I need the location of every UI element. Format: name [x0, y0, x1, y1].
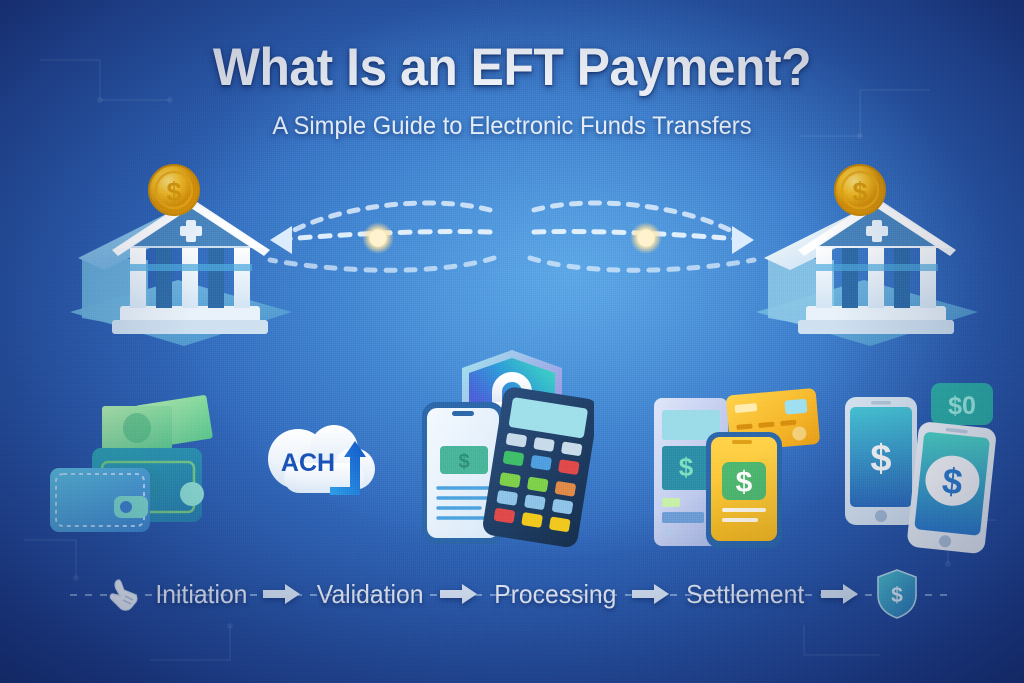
svg-text:$: $ — [736, 466, 753, 499]
svg-text:$: $ — [679, 452, 694, 482]
svg-text:$: $ — [852, 177, 867, 207]
shield-dollar-icon: $ — [876, 569, 918, 619]
method-ach: ACH — [256, 415, 386, 520]
method-atm-card: $ — [634, 380, 824, 555]
bank-right: $ — [748, 160, 988, 350]
method-mobile-transfer: $0 $ $ — [835, 375, 1015, 560]
header: What Is an EFT Payment? A Simple Guide t… — [0, 40, 1024, 141]
arrow-right-icon — [632, 583, 670, 605]
hand-pointer-icon[interactable] — [106, 576, 140, 612]
process-flow: Initiation Validation Processing Settlem… — [0, 568, 1024, 620]
bubble-label: $0 — [948, 392, 976, 420]
banknote-icon — [102, 395, 213, 450]
svg-text:$: $ — [891, 584, 903, 607]
arrow-right-icon — [821, 583, 859, 605]
page-title: What Is an EFT Payment? — [31, 40, 994, 96]
flow-step-validation: Validation — [317, 579, 424, 610]
bank-left: $ — [60, 160, 300, 350]
svg-text:$: $ — [940, 460, 964, 503]
transfer-links — [240, 180, 784, 330]
phone-back-icon: $ — [845, 397, 917, 525]
bank-transfer-row: $ — [0, 160, 1024, 350]
page-subtitle: A Simple Guide to Electronic Funds Trans… — [26, 112, 999, 141]
flow-step-settlement: Settlement — [686, 579, 804, 610]
method-cash-wallet — [40, 390, 240, 545]
flow-step-initiation: Initiation — [156, 579, 248, 610]
coin-icon-right: $ — [835, 165, 885, 215]
svg-text:$: $ — [166, 177, 181, 207]
infographic-poster: What Is an EFT Payment? A Simple Guide t… — [0, 0, 1024, 683]
arrow-right-icon — [440, 583, 478, 605]
arrow-right-icon — [263, 583, 301, 605]
payment-methods-strip: ACH — [0, 375, 1024, 555]
flow-step-processing: Processing — [494, 579, 616, 610]
svg-text:$: $ — [870, 438, 891, 480]
method-card-terminal: $ — [414, 380, 594, 555]
svg-text:$: $ — [458, 451, 469, 473]
smartphone-payment-icon: $ — [706, 432, 782, 548]
coin-icon-left: $ — [149, 165, 199, 215]
phone-front-icon: $ — [906, 421, 997, 554]
ach-label: ACH — [281, 449, 335, 477]
